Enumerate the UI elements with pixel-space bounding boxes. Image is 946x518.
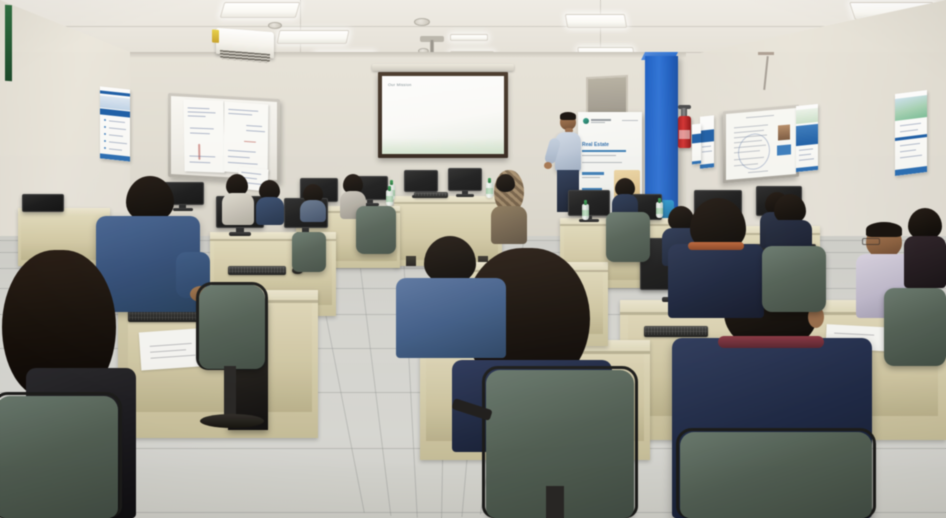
notice-board-photo	[778, 124, 790, 140]
polo-collar	[718, 336, 824, 348]
eyeglasses-icon	[862, 238, 880, 245]
seated-participant	[256, 180, 284, 224]
poster-right-a	[700, 115, 714, 168]
classroom-photo: Our Mission Real Estate	[0, 0, 946, 518]
whiteboard-green-strip	[5, 5, 12, 81]
ac-label-sticker	[212, 29, 219, 43]
participant-polo	[668, 244, 764, 318]
screen-roller-housing	[372, 64, 514, 71]
flipchart-sheet	[183, 99, 224, 173]
seated-participant	[396, 236, 506, 356]
presenter-hand	[544, 162, 552, 169]
seated-participant	[300, 184, 326, 220]
participant-head	[424, 236, 476, 284]
poster-left-upper	[100, 86, 130, 161]
task-chair-back	[199, 285, 265, 369]
task-chair-back	[292, 232, 326, 272]
seated-participant	[222, 174, 254, 224]
split-air-conditioner	[216, 28, 274, 69]
chair-column	[546, 486, 564, 518]
ceiling-light-panel	[565, 14, 627, 28]
presenter-shirt	[555, 132, 581, 172]
smoke-detector-icon	[268, 22, 282, 29]
task-chair-back	[884, 288, 946, 366]
seated-participant	[668, 198, 764, 316]
ceiling-cable-bracket	[758, 52, 774, 55]
slide-title: Our Mission	[388, 82, 412, 87]
ceiling-light-panel	[220, 2, 301, 18]
task-chair-back	[762, 246, 826, 312]
slide-footer-band	[382, 138, 504, 154]
smoke-detector-icon	[414, 18, 430, 26]
poster-right-c	[895, 90, 927, 176]
student-monitor	[22, 194, 64, 216]
seated-participant	[904, 208, 946, 286]
task-chair-back	[356, 206, 396, 254]
notice-board-blue-card	[777, 144, 791, 155]
seated-participant	[494, 174, 518, 208]
task-chair-back	[0, 396, 118, 518]
flipchart-sheet	[224, 102, 269, 175]
participant-shirt	[396, 278, 506, 358]
fire-extinguisher-label	[679, 130, 690, 139]
instructor-monitor	[448, 168, 482, 200]
poster-right-edge	[692, 124, 701, 165]
blue-structural-column	[645, 56, 678, 208]
instructor-keyboard	[414, 192, 448, 198]
poster-right-b	[796, 104, 818, 172]
task-chair-back	[606, 212, 650, 262]
framed-notice-board	[723, 105, 799, 184]
water-bottle	[582, 200, 589, 220]
chair-base-star	[200, 414, 264, 428]
projection-screen: Our Mission	[378, 72, 508, 158]
presenter-hair	[560, 112, 576, 120]
student-keyboard	[228, 266, 286, 275]
participant-hair	[866, 222, 902, 237]
task-chair-back	[680, 432, 872, 518]
student-monitor	[568, 190, 610, 224]
ceiling-light-panel	[277, 30, 350, 44]
water-bottle	[386, 186, 393, 206]
ceiling-light-panel	[450, 34, 488, 41]
polo-collar	[688, 242, 744, 250]
